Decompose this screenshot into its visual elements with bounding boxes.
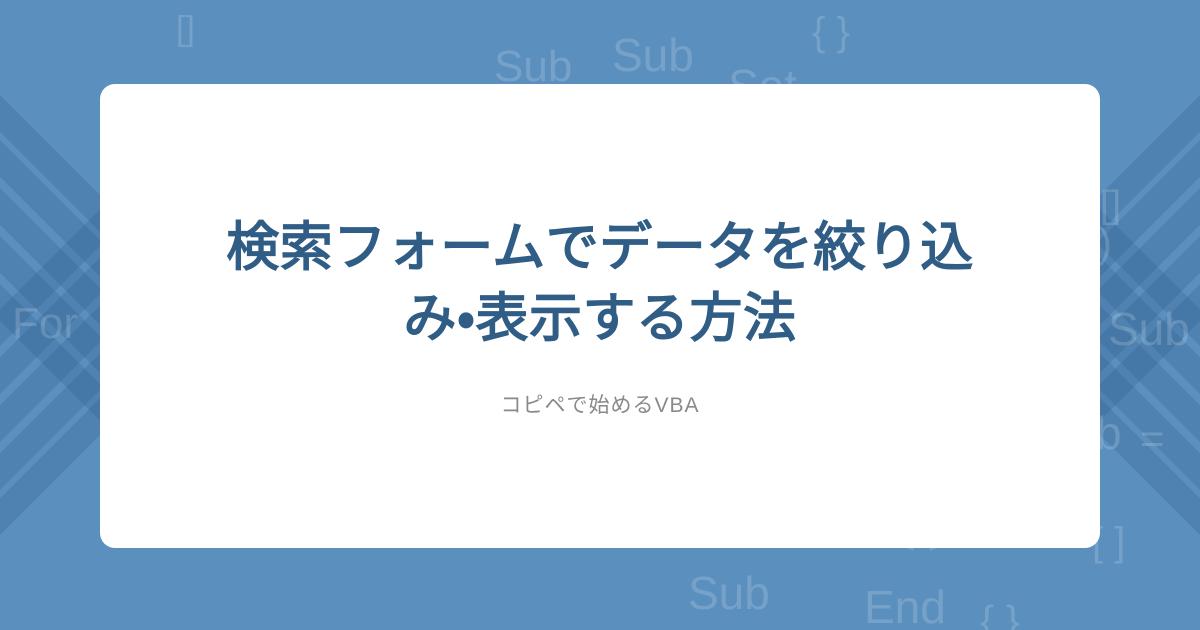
- keyword-sub-glyph-bottom-center: Sub: [688, 570, 770, 616]
- bracket-pair-glyph-right-upper: []: [1100, 186, 1121, 224]
- og-image-canvas: []SubSubSet{ }[])ForSubb=< >[ ]SubEnd{ }…: [0, 0, 1200, 630]
- page-title: 検索フォームでデータを絞り込み・表示する方法: [200, 212, 1000, 355]
- site-name-subtitle: コピペで始めるVBA: [500, 391, 699, 420]
- paren-close-glyph-right-upper: ): [1098, 222, 1112, 264]
- keyword-sub-glyph-top-center: Sub: [612, 32, 694, 78]
- keyword-end-glyph-bottom-right: End: [864, 584, 946, 630]
- keyword-sub-glyph-right: Sub: [1108, 306, 1190, 352]
- keyword-sub-glyph-top-left: Sub: [494, 45, 572, 89]
- brace-pair-glyph-bottom-right: { }: [980, 600, 1020, 630]
- bracket-pair-glyph-top-left: []: [176, 12, 195, 46]
- keyword-for-glyph-left: For: [12, 302, 78, 346]
- content-card: 検索フォームでデータを絞り込み・表示する方法 コピペで始めるVBA: [100, 84, 1100, 548]
- brace-pair-glyph-top-right: { }: [812, 12, 850, 52]
- equals-glyph-right-lower: =: [1140, 418, 1165, 460]
